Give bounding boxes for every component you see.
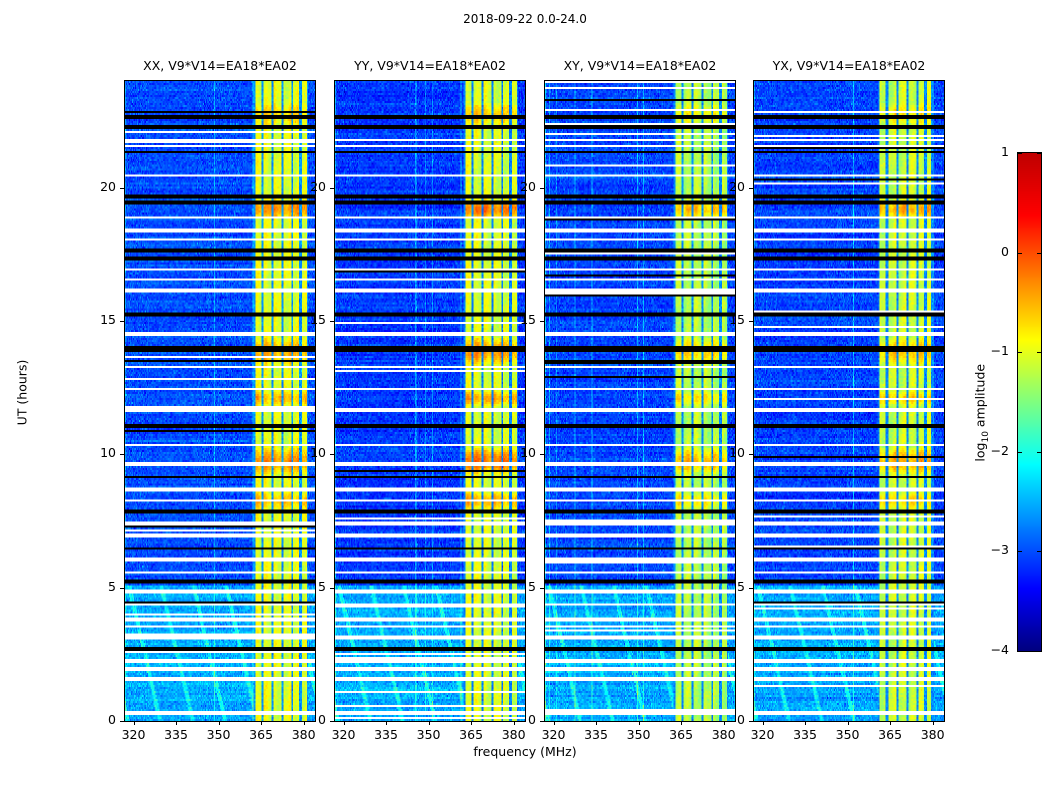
colorbar-tick-mark (1017, 352, 1022, 353)
colorbar[interactable] (1017, 152, 1042, 652)
y-tick-label: 5 (72, 580, 116, 594)
y-tick-mark (749, 588, 753, 589)
y-tick-mark (330, 321, 334, 322)
y-tick-label: 0 (492, 713, 536, 727)
x-tick-mark (344, 721, 345, 725)
x-tick-mark (848, 721, 849, 725)
y-tick-label: 20 (701, 180, 745, 194)
y-tick-label: 5 (701, 580, 745, 594)
y-tick-label: 5 (492, 580, 536, 594)
x-tick-label: 365 (451, 728, 491, 742)
x-tick-label: 365 (870, 728, 910, 742)
y-tick-mark (330, 588, 334, 589)
x-tick-mark (596, 721, 597, 725)
x-tick-label: 350 (409, 728, 449, 742)
y-tick-label: 0 (72, 713, 116, 727)
x-tick-mark (176, 721, 177, 725)
x-tick-mark (429, 721, 430, 725)
x-tick-label: 335 (156, 728, 196, 742)
y-tick-label: 10 (282, 446, 326, 460)
spectrogram-panel-yy[interactable] (334, 80, 526, 722)
x-tick-label: 320 (114, 728, 154, 742)
colorbar-tick-label: −3 (977, 543, 1009, 557)
x-tick-mark (386, 721, 387, 725)
y-tick-label: 20 (72, 180, 116, 194)
x-tick-label: 380 (913, 728, 953, 742)
y-tick-label: 10 (701, 446, 745, 460)
colorbar-tick-mark (1037, 551, 1042, 552)
colorbar-label-subscript: 10 (981, 431, 991, 442)
y-tick-mark (120, 721, 124, 722)
x-tick-label: 350 (199, 728, 239, 742)
y-tick-mark (749, 188, 753, 189)
x-tick-mark (890, 721, 891, 725)
y-tick-mark (120, 454, 124, 455)
y-tick-label: 0 (282, 713, 326, 727)
figure-suptitle: 2018-09-22 0.0-24.0 (0, 12, 1050, 26)
y-tick-label: 15 (282, 313, 326, 327)
spectrogram-panel-xy[interactable] (544, 80, 736, 722)
spectrogram-image-xy (545, 81, 735, 721)
y-tick-label: 5 (282, 580, 326, 594)
y-tick-label: 10 (72, 446, 116, 460)
colorbar-tick-mark (1037, 452, 1042, 453)
y-tick-mark (749, 321, 753, 322)
spectrogram-image-yx (754, 81, 944, 721)
y-tick-label: 10 (492, 446, 536, 460)
colorbar-tick-label: 1 (977, 145, 1009, 159)
colorbar-tick-mark (1017, 651, 1022, 652)
x-tick-label: 365 (661, 728, 701, 742)
y-tick-mark (540, 321, 544, 322)
x-tick-label: 380 (284, 728, 324, 742)
x-tick-mark (763, 721, 764, 725)
x-tick-label: 335 (366, 728, 406, 742)
colorbar-label-prefix: log (972, 443, 987, 462)
x-tick-mark (219, 721, 220, 725)
colorbar-tick-mark (1037, 651, 1042, 652)
x-tick-label: 380 (704, 728, 744, 742)
figure-canvas: 2018-09-22 0.0-24.0 XX, V9*V14=EA18*EA02… (0, 0, 1050, 800)
colorbar-tick-mark (1037, 352, 1042, 353)
x-tick-mark (805, 721, 806, 725)
y-tick-label: 15 (492, 313, 536, 327)
x-tick-mark (681, 721, 682, 725)
colorbar-label: log10 amplitude (972, 333, 994, 493)
y-tick-mark (330, 454, 334, 455)
y-axis-label: UT (hours) (15, 333, 30, 453)
x-tick-label: 320 (743, 728, 783, 742)
spectrogram-panel-yx[interactable] (753, 80, 945, 722)
colorbar-label-suffix: amplitude (972, 364, 987, 431)
spectrogram-image-xx (125, 81, 315, 721)
x-tick-label: 365 (241, 728, 281, 742)
x-tick-label: 350 (619, 728, 659, 742)
x-tick-label: 380 (494, 728, 534, 742)
x-tick-label: 335 (576, 728, 616, 742)
x-tick-mark (639, 721, 640, 725)
y-tick-mark (540, 188, 544, 189)
panel-title-yx: YX, V9*V14=EA18*EA02 (719, 58, 979, 73)
x-tick-label: 320 (534, 728, 574, 742)
y-tick-label: 15 (72, 313, 116, 327)
y-tick-mark (749, 721, 753, 722)
spectrogram-image-yy (335, 81, 525, 721)
x-tick-label: 335 (785, 728, 825, 742)
colorbar-tick-mark (1017, 452, 1022, 453)
x-tick-label: 320 (324, 728, 364, 742)
colorbar-tick-label: −4 (977, 643, 1009, 657)
x-tick-mark (933, 721, 934, 725)
colorbar-tick-mark (1017, 551, 1022, 552)
colorbar-tick-mark (1037, 153, 1042, 154)
y-tick-mark (540, 454, 544, 455)
colorbar-gradient (1018, 153, 1041, 651)
colorbar-tick-mark (1017, 253, 1022, 254)
x-tick-mark (261, 721, 262, 725)
y-tick-mark (120, 188, 124, 189)
x-tick-mark (554, 721, 555, 725)
spectrogram-panel-xx[interactable] (124, 80, 316, 722)
colorbar-tick-mark (1017, 153, 1022, 154)
y-tick-label: 0 (701, 713, 745, 727)
y-tick-mark (749, 454, 753, 455)
y-tick-mark (120, 588, 124, 589)
x-tick-label: 350 (828, 728, 868, 742)
y-tick-label: 20 (492, 180, 536, 194)
x-axis-label: frequency (MHz) (0, 744, 1050, 759)
colorbar-tick-label: 0 (977, 245, 1009, 259)
colorbar-tick-mark (1037, 253, 1042, 254)
y-tick-mark (330, 188, 334, 189)
y-tick-label: 20 (282, 180, 326, 194)
y-tick-mark (120, 321, 124, 322)
y-tick-mark (540, 588, 544, 589)
x-tick-mark (134, 721, 135, 725)
y-tick-mark (330, 721, 334, 722)
y-tick-label: 15 (701, 313, 745, 327)
x-tick-mark (471, 721, 472, 725)
y-tick-mark (540, 721, 544, 722)
